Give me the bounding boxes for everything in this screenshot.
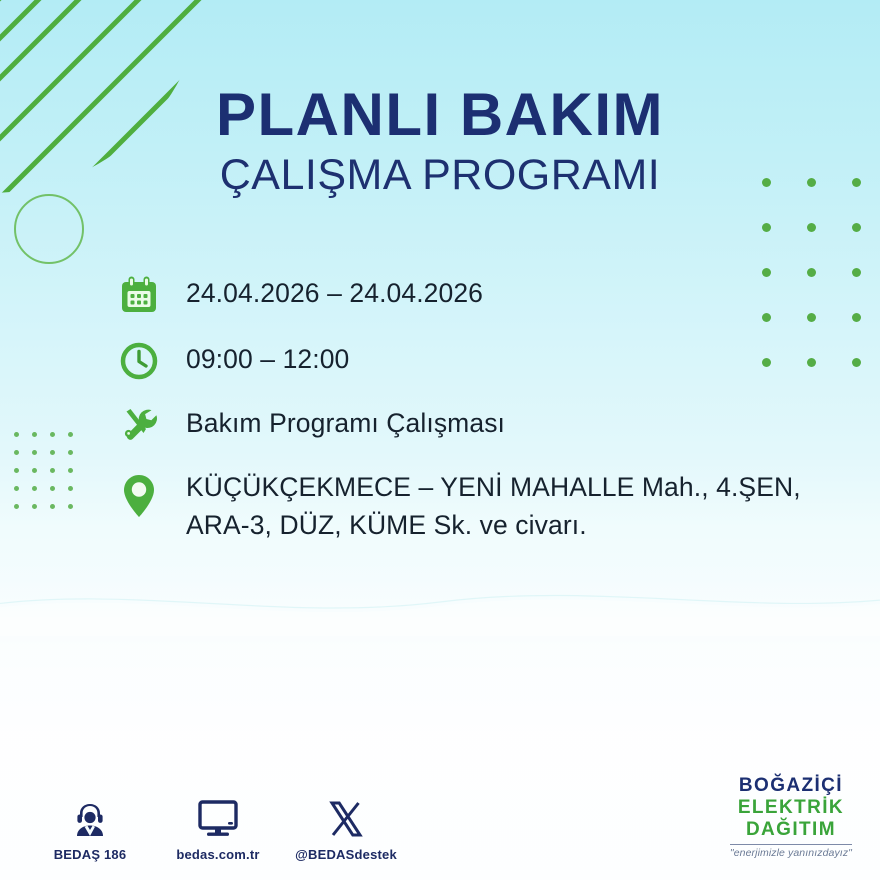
logo-line-elektrik: ELEKTRİK: [730, 798, 852, 817]
poster-canvas: PLANLI BAKIM ÇALIŞMA PROGRAMI: [0, 0, 880, 880]
circle-outline-decoration: [14, 194, 84, 264]
company-logo: BOĞAZİÇİ ELEKTRİK DAĞITIM "enerjimizle y…: [730, 776, 852, 859]
detail-row-date: 24.04.2026 – 24.04.2026: [118, 272, 820, 316]
work-type-value: Bakım Programı Çalışması: [186, 402, 505, 442]
date-range-value: 24.04.2026 – 24.04.2026: [186, 272, 483, 312]
contact-item-phone[interactable]: BEDAŞ 186: [44, 796, 136, 862]
contact-item-x[interactable]: @BEDASdestek: [300, 796, 392, 862]
logo-line-bogazici: BOĞAZİÇİ: [730, 776, 852, 795]
monitor-icon: [195, 796, 241, 840]
page-title: PLANLI BAKIM: [0, 84, 880, 145]
contact-label-website: bedas.com.tr: [176, 847, 259, 862]
logo-divider: [730, 844, 852, 845]
detail-row-location: KÜÇÜKÇEKMECE – YENİ MAHALLE Mah., 4.ŞEN,…: [118, 466, 820, 545]
logo-line-dagitim: DAĞITIM: [730, 820, 852, 839]
location-value: KÜÇÜKÇEKMECE – YENİ MAHALLE Mah., 4.ŞEN,…: [186, 466, 820, 545]
map-pin-icon: [118, 466, 186, 520]
logo-tagline: "enerjimizle yanınızdayız": [730, 848, 852, 859]
headset-operator-icon: [69, 796, 111, 840]
calendar-icon: [118, 272, 186, 316]
footer: BEDAŞ 186 bedas.com.tr: [0, 750, 880, 880]
detail-row-work-type: Bakım Programı Çalışması: [118, 402, 820, 446]
tools-icon: [118, 402, 186, 446]
page-title-block: PLANLI BAKIM ÇALIŞMA PROGRAMI: [0, 84, 880, 199]
clock-icon: [118, 338, 186, 382]
outage-details-list: 24.04.2026 – 24.04.2026 09:00 – 12:00: [118, 272, 820, 545]
page-subtitle: ÇALIŞMA PROGRAMI: [0, 151, 880, 199]
contact-links: BEDAŞ 186 bedas.com.tr: [44, 796, 392, 862]
wave-divider-decoration: [0, 576, 880, 636]
contact-label-x: @BEDASdestek: [295, 847, 397, 862]
contact-label-phone: BEDAŞ 186: [54, 847, 127, 862]
dot-grid-left-decoration: [14, 432, 86, 522]
contact-item-website[interactable]: bedas.com.tr: [172, 796, 264, 862]
x-twitter-icon: [326, 796, 366, 840]
detail-row-time: 09:00 – 12:00: [118, 338, 820, 382]
time-range-value: 09:00 – 12:00: [186, 338, 349, 378]
